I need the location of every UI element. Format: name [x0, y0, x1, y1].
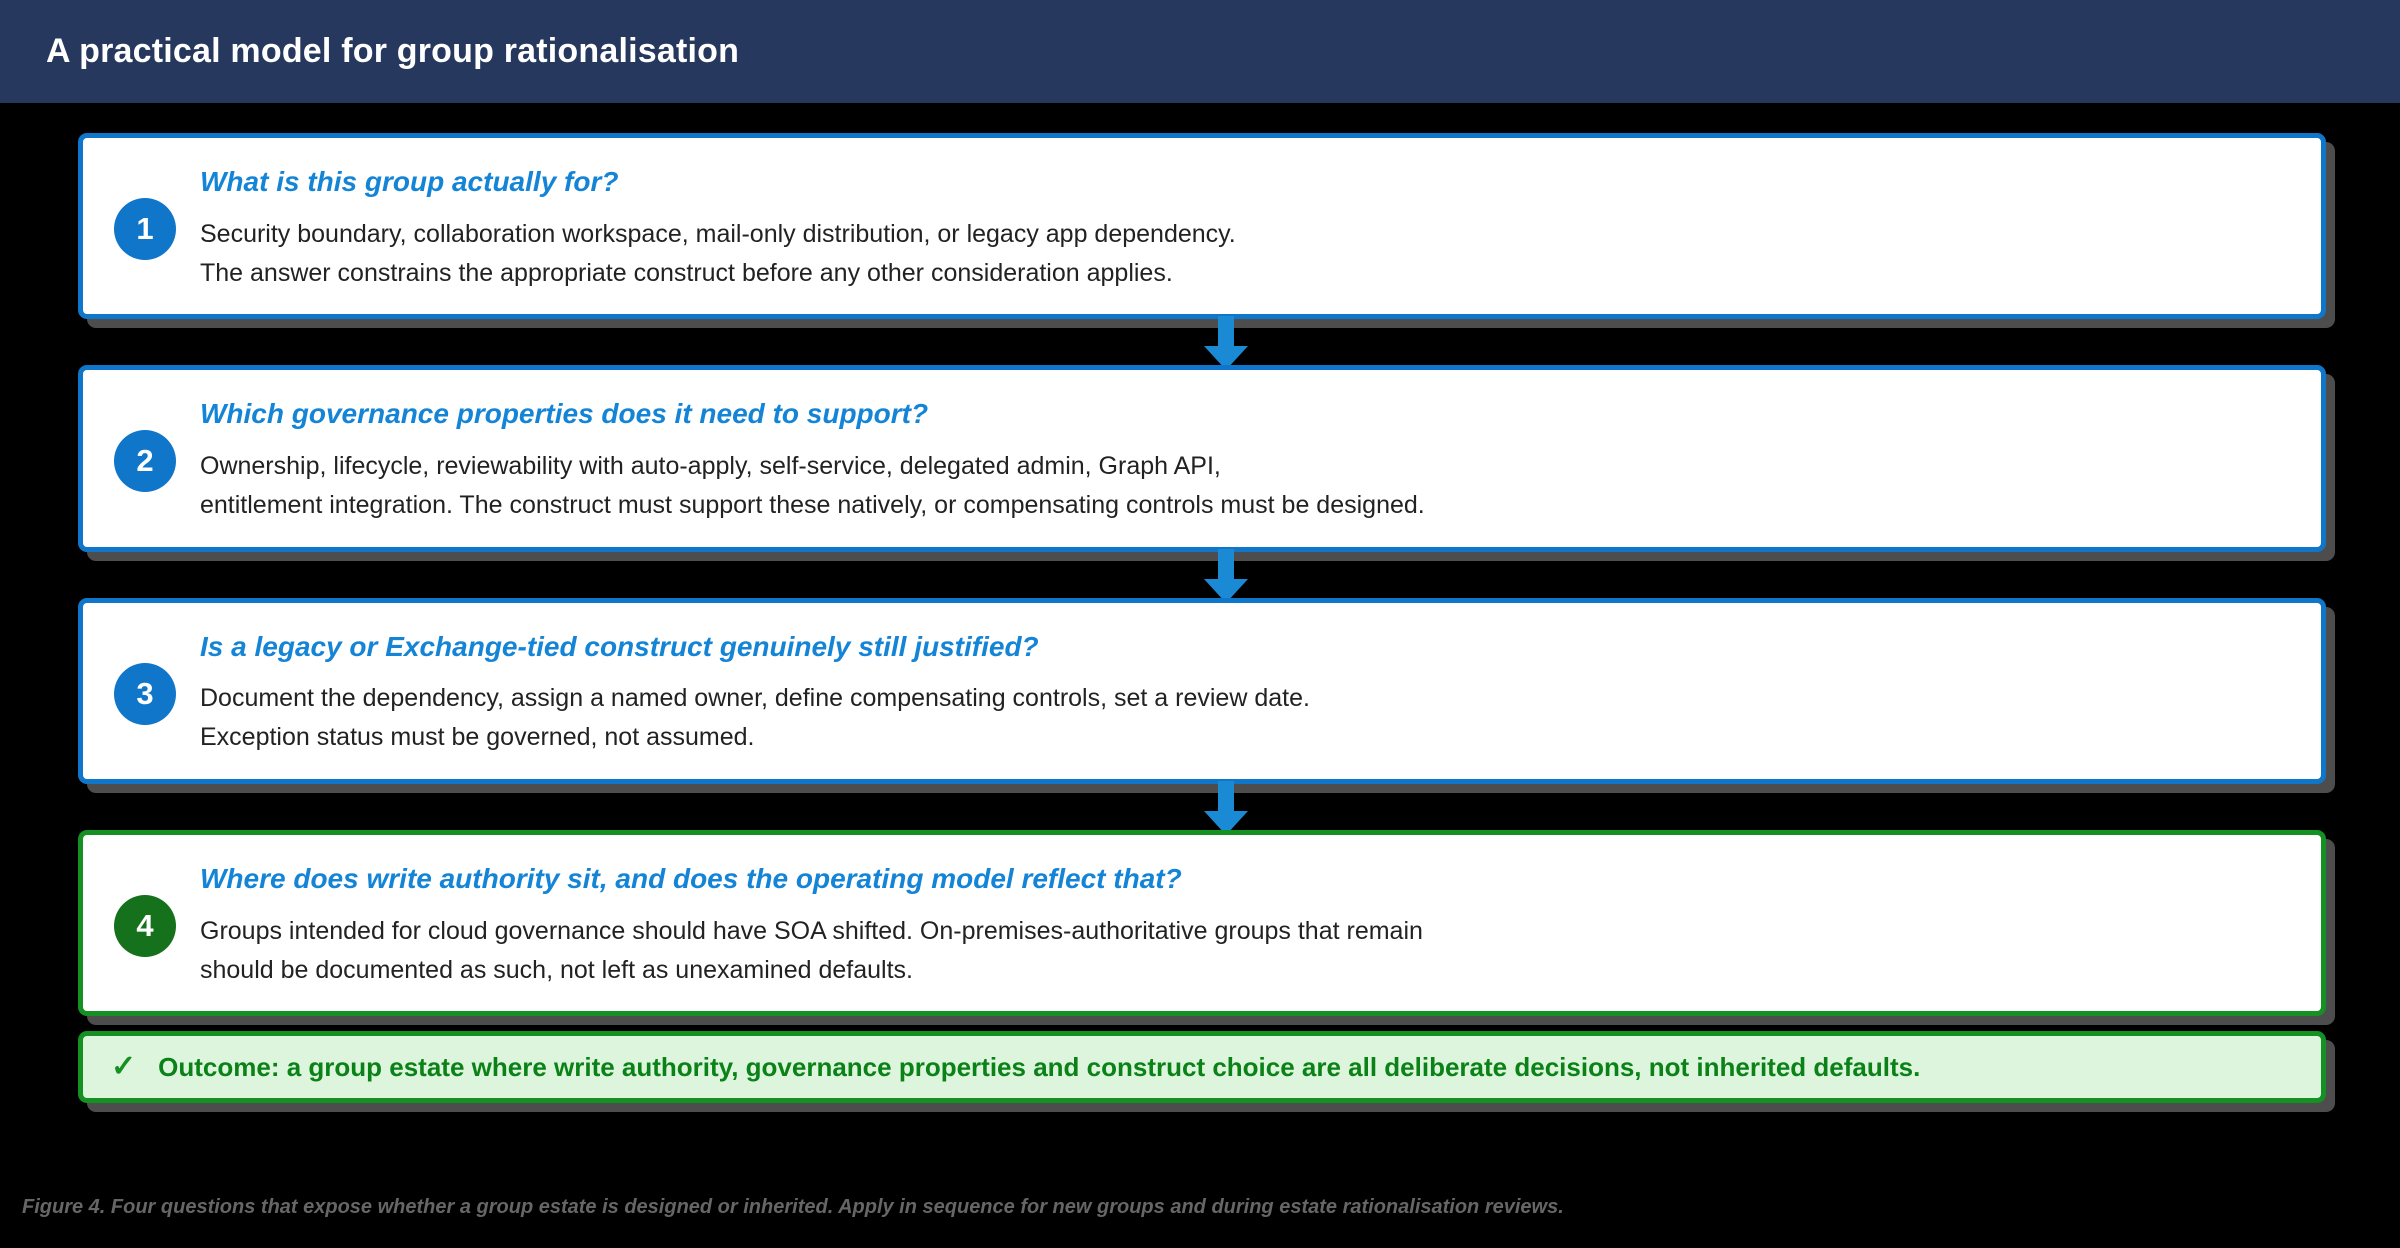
step-line-2-2: entitlement integration. The construct m…	[200, 486, 2295, 525]
step-line-1-1: Security boundary, collaboration workspa…	[200, 215, 2295, 254]
step-body-4: Where does write authority sit, and does…	[200, 857, 2295, 989]
outcome-bar: ✓ Outcome: a group estate where write au…	[78, 1031, 2326, 1103]
header-bar: A practical model for group rationalisat…	[0, 0, 2400, 103]
step-card-3[interactable]: 3 Is a legacy or Exchange-tied construct…	[78, 598, 2326, 784]
step-number-badge-1: 1	[114, 198, 176, 260]
step-number-badge-3: 3	[114, 663, 176, 725]
step-card-wrapper-3: 3 Is a legacy or Exchange-tied construct…	[78, 598, 2326, 784]
step-card-wrapper-4: 4 Where does write authority sit, and do…	[78, 830, 2326, 1016]
step-number-badge-4: 4	[114, 895, 176, 957]
step-body-2: Which governance properties does it need…	[200, 392, 2295, 524]
step-question-1: What is this group actually for?	[200, 164, 2295, 200]
connector-2-3	[78, 552, 2326, 598]
step-question-2: Which governance properties does it need…	[200, 396, 2295, 432]
step-line-3-2: Exception status must be governed, not a…	[200, 718, 2295, 757]
steps-stack: 1 What is this group actually for? Secur…	[78, 133, 2326, 1103]
step-card-wrapper-1: 1 What is this group actually for? Secur…	[78, 133, 2326, 319]
step-body-3: Is a legacy or Exchange-tied construct g…	[200, 625, 2295, 757]
step-question-4: Where does write authority sit, and does…	[200, 861, 2295, 897]
check-icon: ✓	[111, 1052, 136, 1082]
step-card-wrapper-2: 2 Which governance properties does it ne…	[78, 365, 2326, 551]
arrow-down-icon	[1200, 549, 1252, 603]
step-line-2-1: Ownership, lifecycle, reviewability with…	[200, 447, 2295, 486]
arrow-down-icon	[1200, 316, 1252, 370]
step-line-1-2: The answer constrains the appropriate co…	[200, 254, 2295, 293]
page-title: A practical model for group rationalisat…	[46, 32, 739, 71]
step-card-1[interactable]: 1 What is this group actually for? Secur…	[78, 133, 2326, 319]
slide-canvas: A practical model for group rationalisat…	[0, 0, 2400, 1248]
step-card-4[interactable]: 4 Where does write authority sit, and do…	[78, 830, 2326, 1016]
step-line-3-1: Document the dependency, assign a named …	[200, 679, 2295, 718]
step-body-1: What is this group actually for? Securit…	[200, 160, 2295, 292]
step-line-4-1: Groups intended for cloud governance sho…	[200, 912, 2295, 951]
connector-3-4	[78, 784, 2326, 830]
outcome-text: Outcome: a group estate where write auth…	[158, 1052, 1920, 1083]
arrow-down-icon	[1200, 781, 1252, 835]
connector-1-2	[78, 319, 2326, 365]
step-line-4-2: should be documented as such, not left a…	[200, 951, 2295, 990]
step-question-3: Is a legacy or Exchange-tied construct g…	[200, 629, 2295, 665]
step-number-badge-2: 2	[114, 430, 176, 492]
step-card-2[interactable]: 2 Which governance properties does it ne…	[78, 365, 2326, 551]
figure-caption: Figure 4. Four questions that expose whe…	[22, 1196, 2382, 1219]
